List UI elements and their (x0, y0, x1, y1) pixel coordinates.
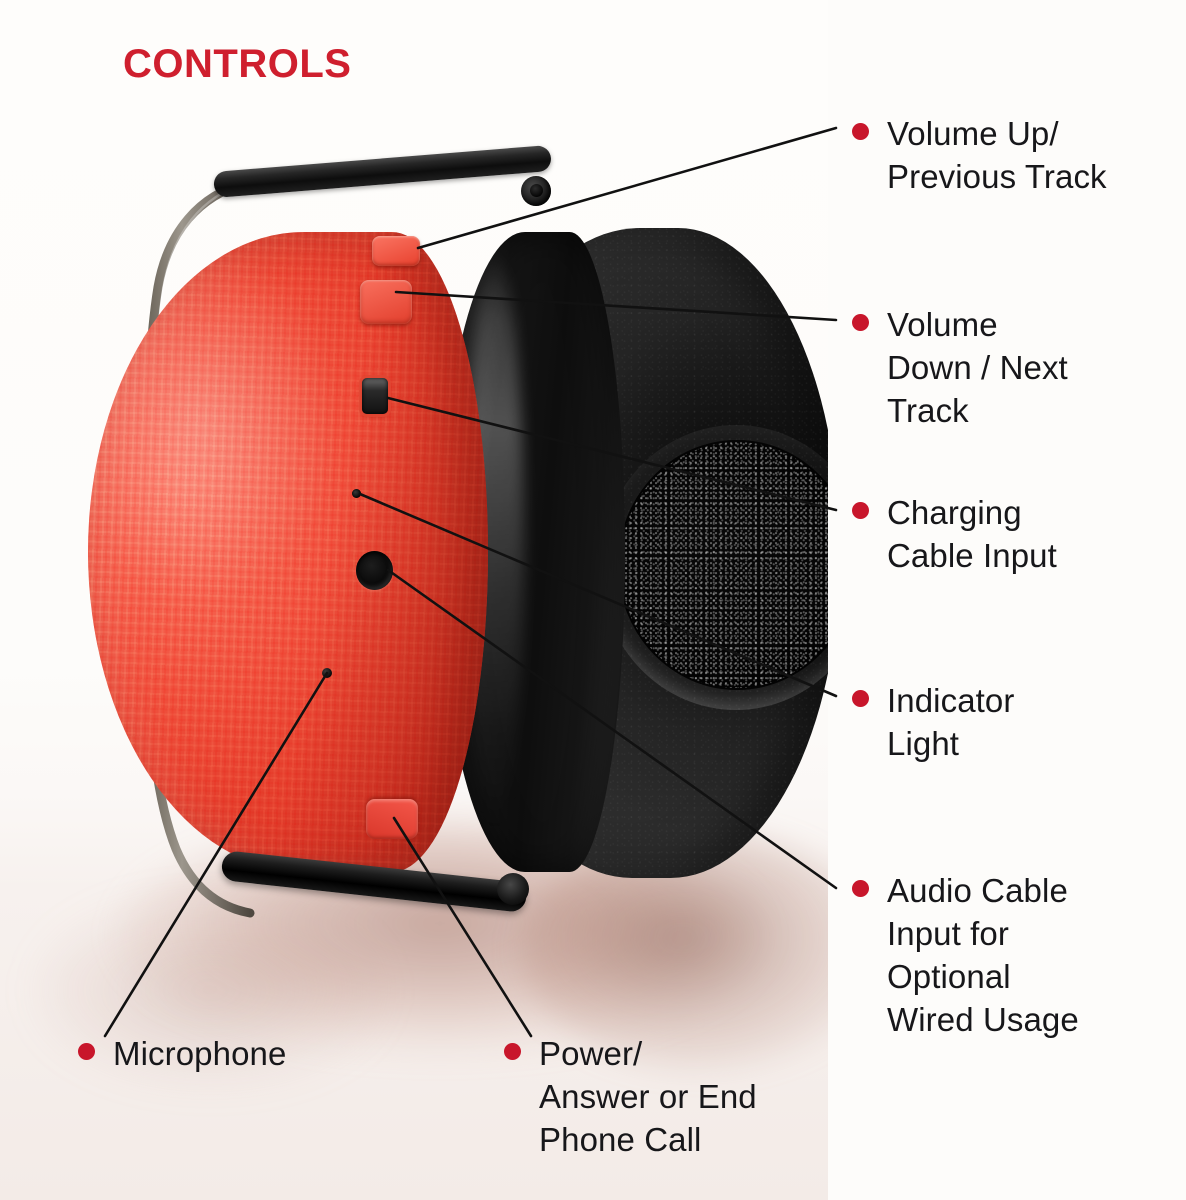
callout-volume-up-label: Volume Up/ Previous Track (887, 112, 1107, 198)
bullet-icon (852, 880, 869, 897)
callout-audio-cable: Audio Cable Input for Optional Wired Usa… (852, 869, 1152, 1041)
bullet-icon (852, 314, 869, 331)
bullet-icon (504, 1043, 521, 1060)
controls-infographic: CONTROLS Volume Up/ Previous Track Volum… (0, 0, 1186, 1200)
page-title: CONTROLS (123, 44, 351, 84)
callout-indicator-label: Indicator Light (887, 679, 1014, 765)
volume-up-button[interactable] (372, 236, 420, 266)
power-call-button[interactable] (366, 799, 418, 839)
headband-end-cap-bottom (497, 873, 529, 905)
audio-jack-port[interactable] (356, 551, 393, 590)
bullet-icon (852, 123, 869, 140)
callout-volume-up: Volume Up/ Previous Track (852, 112, 1152, 198)
headband-end-cap-top (521, 176, 551, 206)
callout-indicator: Indicator Light (852, 679, 1152, 765)
callout-power: Power/ Answer or End Phone Call (504, 1032, 834, 1161)
callout-charging: Charging Cable Input (852, 491, 1152, 577)
red-carbon-fiber-shell (88, 232, 488, 872)
callout-audio-cable-label: Audio Cable Input for Optional Wired Usa… (887, 869, 1079, 1041)
callout-volume-down: Volume Down / Next Track (852, 303, 1152, 432)
product-photo (0, 0, 828, 1200)
charging-port[interactable] (362, 378, 388, 414)
callout-microphone: Microphone (78, 1032, 408, 1075)
callout-microphone-label: Microphone (113, 1032, 286, 1075)
bullet-icon (852, 690, 869, 707)
bullet-icon (852, 502, 869, 519)
headband-tube-top (213, 145, 552, 198)
callout-volume-down-label: Volume Down / Next Track (887, 303, 1068, 432)
volume-down-button[interactable] (360, 280, 412, 324)
callout-charging-label: Charging Cable Input (887, 491, 1057, 577)
bullet-icon (78, 1043, 95, 1060)
indicator-light (352, 489, 361, 498)
callout-power-label: Power/ Answer or End Phone Call (539, 1032, 757, 1161)
microphone-hole (322, 668, 332, 678)
